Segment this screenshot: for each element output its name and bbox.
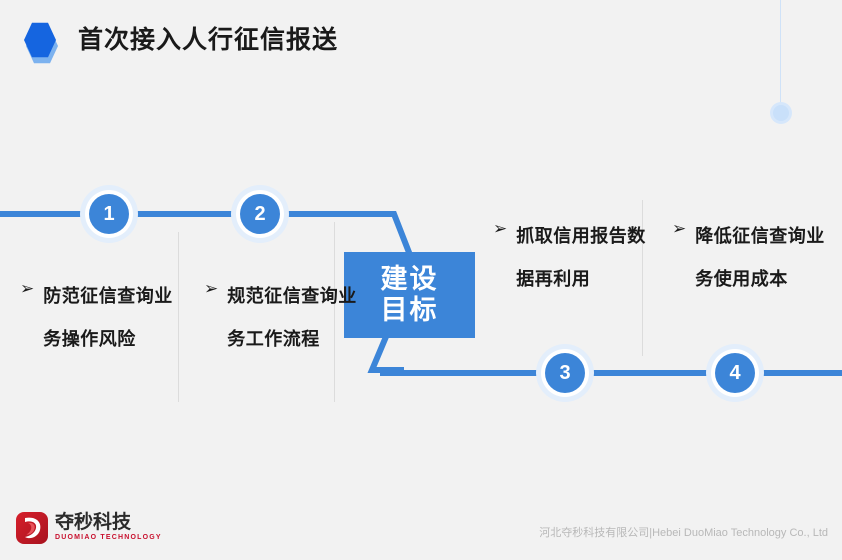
bullet-item-2: ➢ 规范征信查询业务工作流程 — [204, 275, 365, 361]
logo-name-cn: 夺秒科技 — [55, 513, 162, 533]
footer-company-note: 河北夺秒科技有限公司|Hebei DuoMiao Technology Co.,… — [539, 524, 828, 540]
timeline-line-top — [0, 211, 382, 217]
timeline-line-bottom — [380, 370, 842, 376]
step-marker-1-ring: 1 — [85, 190, 133, 238]
slide-root: 首次接入人行征信报送 建设 目标 1 2 3 4 — [0, 0, 842, 560]
bullet-item-1: ➢ 防范征信查询业务操作风险 — [20, 275, 181, 361]
company-logo: 夺秒科技 DUOMIAO TECHNOLOGY — [16, 512, 162, 544]
arrow-bullet-icon: ➢ — [204, 275, 218, 303]
step-marker-2-number: 2 — [240, 194, 280, 234]
bullet-item-3: ➢ 抓取信用报告数据再利用 — [493, 215, 654, 301]
decorative-dot — [770, 102, 792, 124]
step-marker-3-ring: 3 — [541, 349, 589, 397]
bullet-item-4: ➢ 降低征信查询业务使用成本 — [672, 215, 833, 301]
step-marker-2-ring: 2 — [236, 190, 284, 238]
page-title: 首次接入人行征信报送 — [78, 28, 338, 53]
logo-mark-icon — [16, 512, 48, 544]
arrow-bullet-icon: ➢ — [672, 215, 686, 243]
slide-header: 首次接入人行征信报送 — [22, 18, 338, 62]
arrow-bullet-icon: ➢ — [493, 215, 507, 243]
logo-text-block: 夺秒科技 DUOMIAO TECHNOLOGY — [55, 513, 162, 543]
step-marker-4[interactable]: 4 — [706, 344, 764, 402]
step-marker-3[interactable]: 3 — [536, 344, 594, 402]
goal-callout-line-2: 目标 — [381, 295, 439, 326]
hexagon-icon — [22, 19, 64, 61]
step-marker-4-ring: 4 — [711, 349, 759, 397]
bullet-item-3-text: 抓取信用报告数据再利用 — [516, 215, 654, 301]
decorative-vertical-line — [780, 0, 781, 108]
bullet-item-2-text: 规范征信查询业务工作流程 — [227, 275, 365, 361]
logo-name-en: DUOMIAO TECHNOLOGY — [55, 533, 162, 543]
step-marker-1[interactable]: 1 — [80, 185, 138, 243]
bullet-item-1-text: 防范征信查询业务操作风险 — [43, 275, 181, 361]
bullet-item-4-text: 降低征信查询业务使用成本 — [695, 215, 833, 301]
step-marker-4-number: 4 — [715, 353, 755, 393]
step-marker-2[interactable]: 2 — [231, 185, 289, 243]
step-marker-1-number: 1 — [89, 194, 129, 234]
goal-callout-line-1: 建设 — [381, 264, 439, 295]
connector-elbow-top — [376, 211, 416, 257]
arrow-bullet-icon: ➢ — [20, 275, 34, 303]
step-marker-3-number: 3 — [545, 353, 585, 393]
